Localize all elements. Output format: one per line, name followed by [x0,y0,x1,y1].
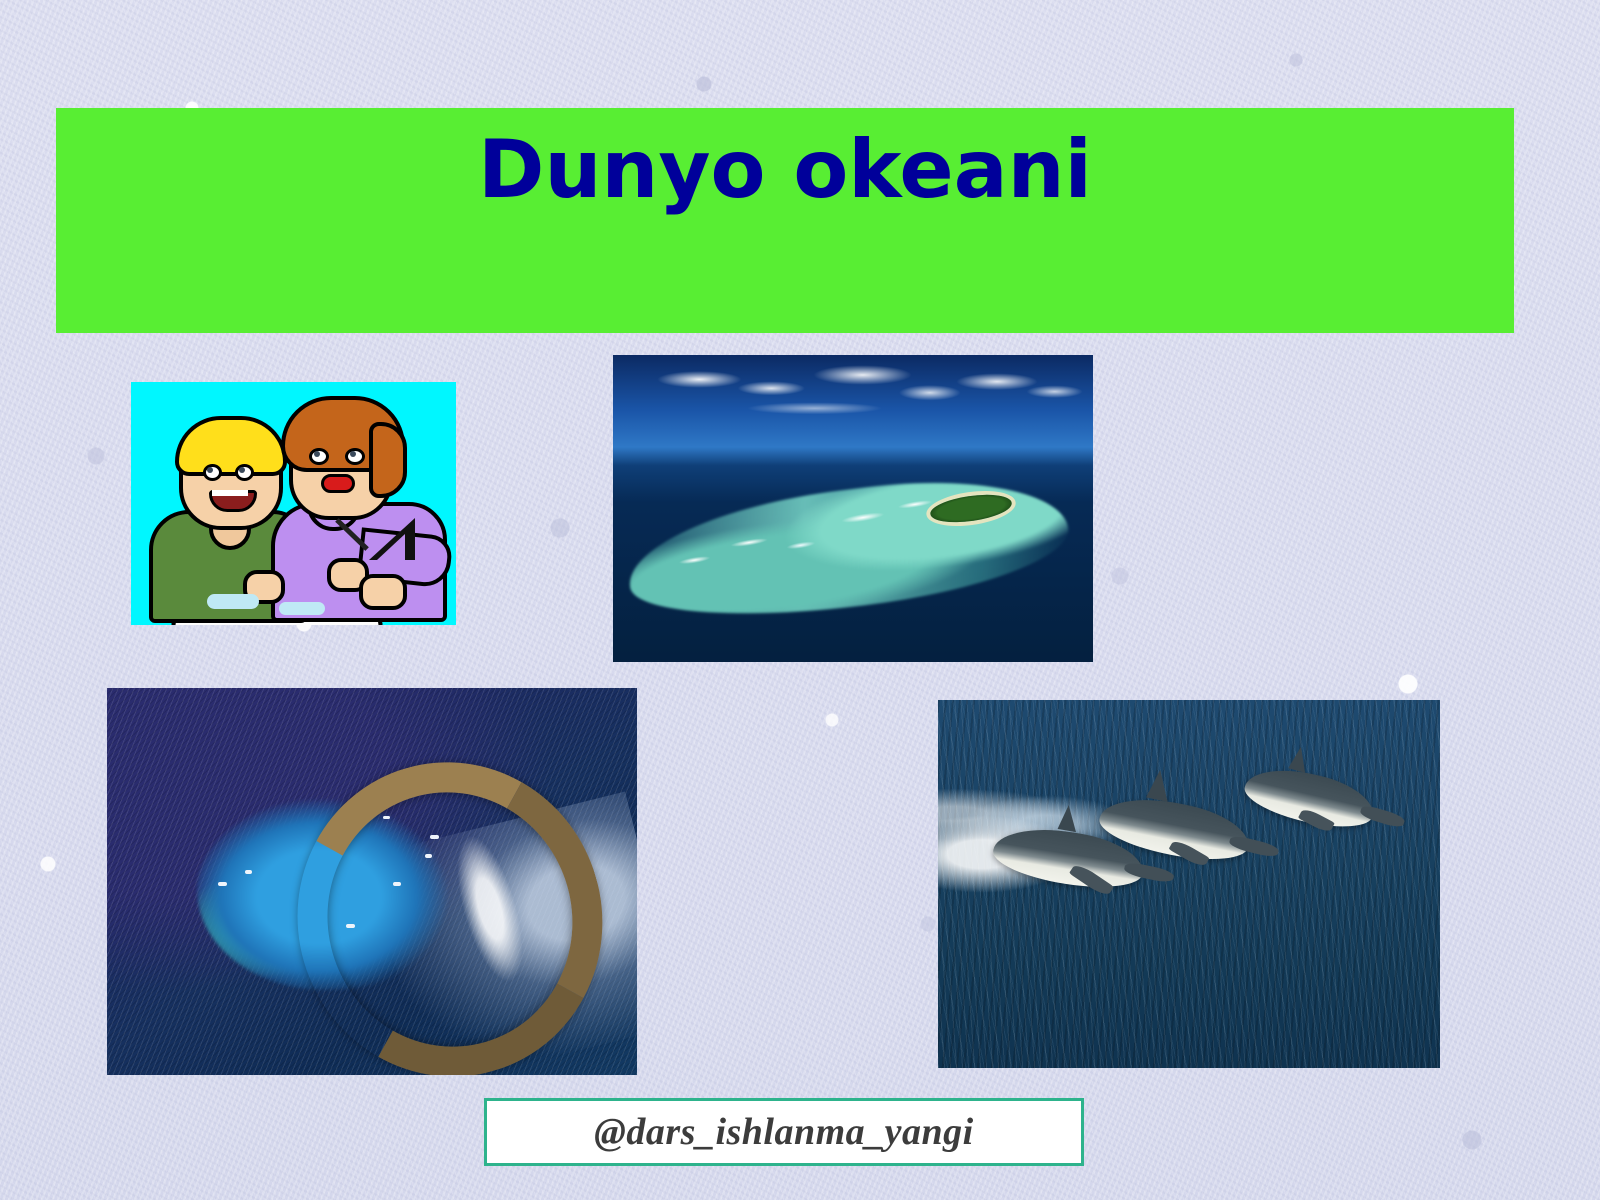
title-banner: Dunyo okeani [56,108,1514,333]
page-title: Dunyo okeani [56,128,1514,212]
boat [218,882,227,886]
boy-pupil-left [207,467,213,473]
dolphins-leaping-photo [938,700,1440,1068]
girl-pupil-right [350,451,356,457]
girl-hand-right [359,574,407,610]
girl-eye-right [345,448,365,465]
boy-pupil-right [239,467,245,473]
boy-teeth [212,490,248,496]
credit-box: @dars_ishlanma_yangi [484,1098,1084,1166]
set-square-hole [377,534,405,560]
boy-eye-right [235,464,254,481]
girl-lips [321,474,355,493]
credit-handle-text: @dars_ishlanma_yangi [594,1110,973,1154]
boat [430,835,439,839]
boy-hair [175,416,287,476]
boy-eye-left [203,464,222,481]
coral-atoll-aerial-photo [613,355,1093,662]
girl-pupil-left [314,451,320,457]
boat [245,870,252,874]
crescent-crater-island-photo [107,688,637,1075]
students-with-map-clipart [131,382,456,625]
boat [346,924,355,928]
girl-hair-side [369,422,407,498]
boat [383,816,390,819]
slide-canvas: Dunyo okeani [0,0,1600,1200]
girl-eye-left [309,448,329,465]
sky-with-clouds [613,355,1093,466]
map-ocean-1 [207,594,259,609]
boat [393,882,401,886]
map-ocean-2 [279,602,325,615]
